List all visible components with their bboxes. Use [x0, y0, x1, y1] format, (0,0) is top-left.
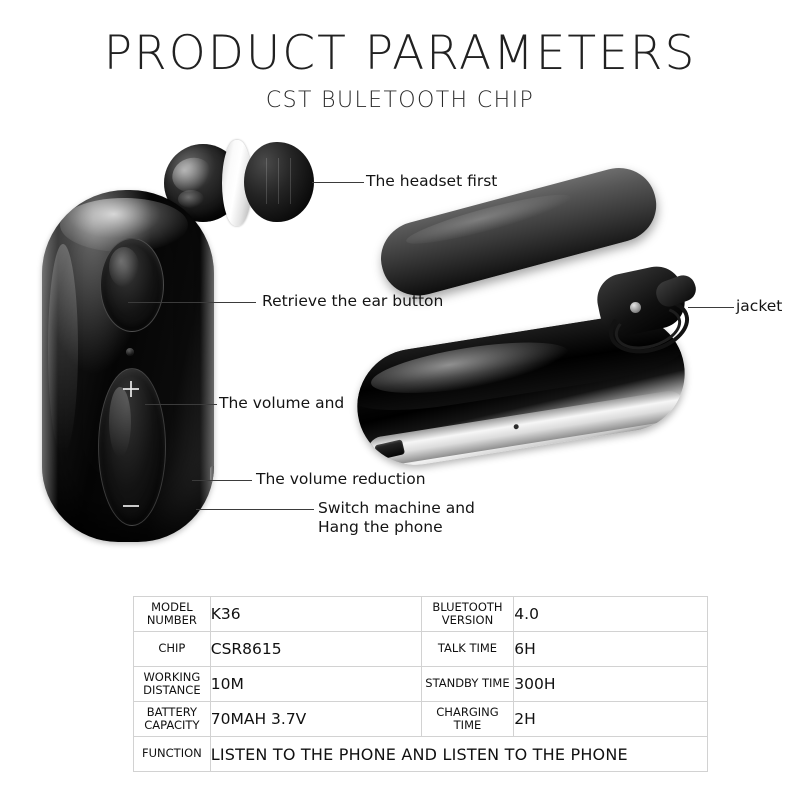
spec-value-chip: CSR8615: [210, 632, 421, 667]
earbud-tip-crease-1: [266, 158, 267, 204]
leader-line-headset-first: [312, 182, 364, 183]
table-row: BATTERY CAPACITY 70MAH 3.7V CHARGING TIM…: [134, 702, 708, 737]
volume-rocker-button: [98, 368, 166, 526]
table-row: CHIP CSR8615 TALK TIME 6H: [134, 632, 708, 667]
spec-key-battery-capacity: BATTERY CAPACITY: [134, 702, 211, 737]
retract-button-gloss: [109, 247, 139, 287]
spec-key-talk-time: TALK TIME: [421, 632, 514, 667]
spec-value-standby-time: 300H: [514, 667, 708, 702]
leader-line-volume-reduction: [192, 480, 252, 481]
leader-line-jacket: [688, 307, 734, 308]
clip-hinge-pin: [630, 302, 641, 313]
spec-value-model-number: K36: [210, 597, 421, 632]
callout-headset-first: The headset first: [366, 172, 497, 191]
table-row-function: FUNCTION LISTEN TO THE PHONE AND LISTEN …: [134, 737, 708, 772]
infographic-canvas: PRODUCT PARAMETERS CST BULETOOTH CHIP: [0, 0, 800, 800]
retract-ear-button: [100, 238, 164, 332]
volume-rocker-gloss: [109, 387, 131, 457]
callout-volume-and: The volume and: [219, 394, 344, 413]
jacket-clip-gloss: [403, 187, 573, 252]
clip-on-bluetooth-headset-front: [42, 190, 214, 542]
page-subtitle: CST BULETOOTH CHIP: [0, 88, 800, 113]
spec-key-chip: CHIP: [134, 632, 211, 667]
spec-key-model-number: MODEL NUMBER: [134, 597, 211, 632]
callout-hang-the-phone: Hang the phone: [318, 518, 443, 537]
earbud-tip-crease-3: [290, 158, 291, 204]
page-title: PRODUCT PARAMETERS: [0, 26, 800, 81]
leader-line-retrieve-ear: [128, 302, 256, 303]
spec-value-talk-time: 6H: [514, 632, 708, 667]
spec-value-battery-capacity: 70MAH 3.7V: [210, 702, 421, 737]
spec-key-standby-time: STANDBY TIME: [421, 667, 514, 702]
spec-key-working-distance: WORKING DISTANCE: [134, 667, 211, 702]
side-button-power-answer: [210, 492, 214, 514]
spec-value-charging-time: 2H: [514, 702, 708, 737]
spec-value-function: LISTEN TO THE PHONE AND LISTEN TO THE PH…: [210, 737, 707, 772]
device-side-sheen: [48, 244, 78, 454]
volume-down-icon: [123, 505, 139, 507]
spec-table-body: MODEL NUMBER K36 BLUETOOTH VERSION 4.0 C…: [134, 597, 708, 772]
table-row: WORKING DISTANCE 10M STANDBY TIME 300H: [134, 667, 708, 702]
leader-line-volume-and: [145, 404, 217, 405]
product-spec-table: MODEL NUMBER K36 BLUETOOTH VERSION 4.0 C…: [133, 596, 708, 772]
callout-volume-reduction: The volume reduction: [256, 470, 426, 489]
leader-line-switch-machine: [196, 509, 314, 510]
callout-retrieve-ear-button: Retrieve the ear button: [262, 292, 443, 311]
spec-key-bluetooth-version: BLUETOOTH VERSION: [421, 597, 514, 632]
device-right-edge-highlight: [200, 190, 214, 542]
spec-value-bluetooth-version: 4.0: [514, 597, 708, 632]
led-indicator: [126, 348, 134, 356]
callout-jacket: jacket: [736, 297, 782, 316]
earbud-silicone-tip: [244, 142, 314, 222]
callout-switch-machine: Switch machine and: [318, 499, 475, 518]
spec-key-charging-time: CHARGING TIME: [421, 702, 514, 737]
clip-on-bluetooth-headset-back: [356, 228, 708, 474]
spec-key-function: FUNCTION: [134, 737, 211, 772]
spec-value-working-distance: 10M: [210, 667, 421, 702]
table-row: MODEL NUMBER K36 BLUETOOTH VERSION 4.0: [134, 597, 708, 632]
earbud-tip-crease-2: [278, 158, 279, 204]
volume-up-icon-bar: [123, 388, 139, 390]
